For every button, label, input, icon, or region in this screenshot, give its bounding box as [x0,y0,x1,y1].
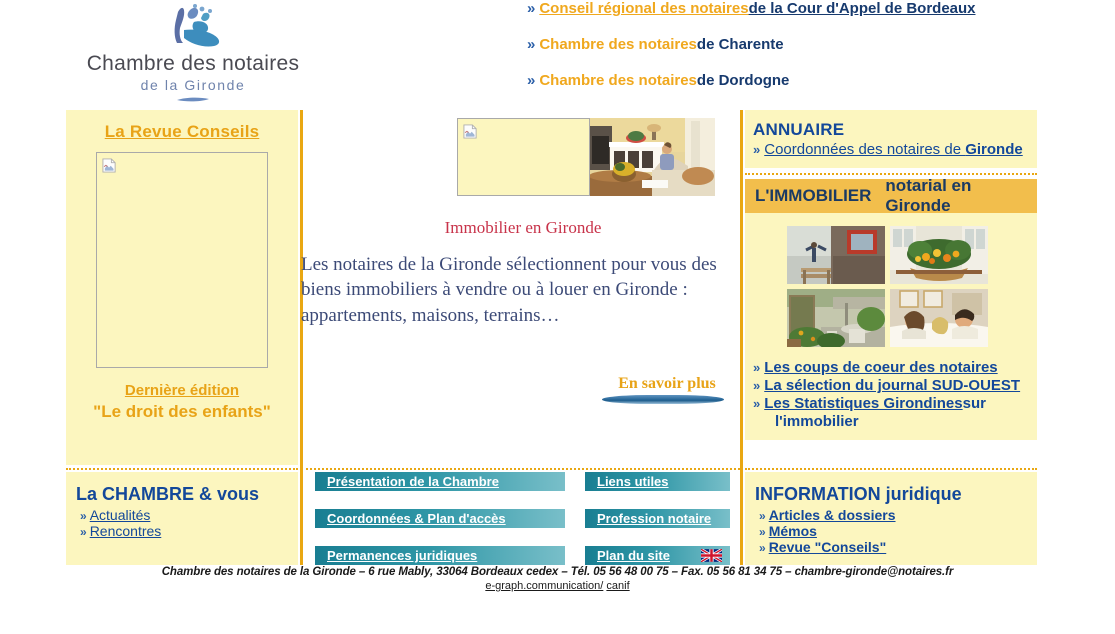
double-chevron-icon: » [753,397,758,410]
button-coordonnees-plan[interactable]: Coordonnées & Plan d'accès [315,509,565,528]
header-link-conseil-regional[interactable]: » Conseil régional des notaires de la Co… [527,0,1087,36]
link-statistiques-continuation[interactable]: l'immobilier [753,413,1037,430]
living-room-photo-art [590,118,715,196]
double-chevron-icon: » [759,525,764,539]
bottom-divider-mid [306,468,740,470]
header-link-gold-part: Chambre des notaires [539,36,697,53]
left-column-revue: La Revue Conseils Dernière édition "Le d… [66,110,298,465]
header-link-dordogne[interactable]: » Chambre des notaires de Dordogne [527,72,1087,108]
chambre-et-vous-heading: La CHAMBRE & vous [66,472,298,507]
information-juridique-section: INFORMATION juridique » Articles & dossi… [745,472,1037,565]
logo-swoosh-icon [176,96,210,103]
double-chevron-icon: » [527,1,533,16]
chambre-link-actualites[interactable]: » Actualités [66,507,298,523]
double-chevron-icon: » [80,525,85,539]
immobilier-photo-grid [745,213,1037,355]
revue-conseils-title[interactable]: La Revue Conseils [66,110,298,142]
header-link-navy-part: de la Cour d'Appel de Bordeaux [749,0,976,17]
info-link-memos-label: Mémos [769,523,817,539]
button-plan-du-site[interactable]: Plan du site [585,546,730,565]
en-savoir-plus-link[interactable]: En savoir plus [602,375,732,393]
info-link-articles-label: Articles & dossiers [769,507,896,523]
button-profession-notaire[interactable]: Profession notaire [585,509,730,528]
chambre-et-vous-section: La CHAMBRE & vous » Actualités » Rencont… [66,472,298,565]
header-link-navy-part: de Charente [697,36,784,53]
double-chevron-icon: » [80,509,85,523]
info-link-memos[interactable]: » Mémos [745,523,1037,539]
header-link-gold-part: Conseil régional des notaires [539,0,748,17]
living-room-photo [590,118,715,196]
footer-credit-canif-link[interactable]: canif [606,580,629,592]
annuaire-link-row[interactable]: » Coordonnées des notaires de Gironde [753,141,1037,158]
double-chevron-icon: » [753,143,758,156]
immobilier-banner-strong: L'IMMOBILIER [755,186,871,206]
section-divider-dotted [745,173,1037,175]
revue-edition-label: Dernière édition [66,382,298,401]
site-header: Chambre des notaires de la Gironde » Con… [0,0,1115,110]
button-liens-utiles[interactable]: Liens utiles [585,472,730,491]
revue-edition-block[interactable]: Dernière édition "Le droit des enfants" [66,382,298,422]
link-selection-sud-ouest[interactable]: » La sélection du journal SUD-OUEST [753,377,1037,394]
immobilier-links: » Les coups de coeur des notaires » La s… [745,355,1037,440]
family-on-bed-photo-art [890,289,988,347]
notaries-swirl-logo-icon [150,4,236,50]
header-link-charente[interactable]: » Chambre des notaires de Charente [527,36,1087,72]
button-permanences-juridiques[interactable]: Permanences juridiques [315,546,565,565]
info-link-revue-conseils[interactable]: » Revue "Conseils" [745,539,1037,555]
garden-terrace-photo-art [787,289,885,347]
union-jack-flag-icon[interactable] [701,549,722,562]
immobilier-body-text: Les notaires de la Gironde sélectionnent… [301,252,747,328]
bottom-divider-left [66,468,298,470]
double-chevron-icon: » [753,361,758,374]
button-profession-notaire-label: Profession notaire [597,511,711,526]
double-chevron-icon: » [759,541,764,555]
button-presentation-chambre[interactable]: Présentation de la Chambre [315,472,565,491]
garden-terrace-photo[interactable] [787,289,885,347]
annuaire-link-prefix: Coordonnées des notaires de [764,141,965,158]
header-links: » Conseil régional des notaires de la Co… [527,0,1087,108]
footer-credit-egraph-link[interactable]: e-graph.communication/ [485,580,603,592]
beach-house-photo-art [787,226,885,284]
information-heading-strong: INFORMATION [755,484,881,504]
site-footer: Chambre des notaires de la Gironde – 6 r… [0,566,1115,592]
immobilier-heading: Immobilier en Gironde [306,218,740,238]
bottom-divider-right [745,468,1037,470]
header-link-navy-part: de Dordogne [697,72,790,89]
nav-buttons-grid: Présentation de la Chambre Coordonnées &… [306,472,740,474]
double-chevron-icon: » [527,37,533,52]
info-link-articles[interactable]: » Articles & dossiers [745,507,1037,523]
annuaire-coordonnees-link[interactable]: Coordonnées des notaires de Gironde [764,141,1023,158]
footer-contact-line: Chambre des notaires de la Gironde – 6 r… [0,566,1115,578]
info-link-revue-conseils-label: Revue "Conseils" [769,539,887,555]
beach-house-photo[interactable] [787,226,885,284]
double-chevron-icon: » [759,509,764,523]
double-chevron-icon: » [753,379,758,392]
logo-text-secondary: de la Gironde [141,77,246,93]
broken-image-placeholder-icon [102,158,117,173]
link-statistiques-girondines[interactable]: » Les Statistiques Girondines sur [753,395,1037,412]
revue-edition-title: "Le droit des enfants" [66,401,298,422]
page-root: Chambre des notaires de la Gironde » Con… [0,0,1115,634]
en-savoir-plus-block[interactable]: En savoir plus [602,375,732,404]
button-plan-du-site-label: Plan du site [597,548,670,563]
immobilier-banner-rest: notarial en Gironde [885,176,1037,216]
link-statistiques-suffix: sur [963,395,986,412]
button-presentation-chambre-label: Présentation de la Chambre [327,474,499,489]
button-permanences-juridiques-label: Permanences juridiques [327,548,477,563]
nav-buttons-section: Présentation de la Chambre Coordonnées &… [306,472,740,565]
flower-planter-photo-art [890,226,988,284]
chambre-link-rencontres[interactable]: » Rencontres [66,523,298,539]
chambre-link-rencontres-label: Rencontres [90,523,162,539]
center-media-row [457,118,715,196]
header-link-gold-part: Chambre des notaires [539,72,697,89]
revue-cover-image[interactable] [96,152,268,368]
annuaire-link-bold: Gironde [965,141,1023,158]
column-divider-left [300,110,303,565]
right-column: ANNUAIRE » Coordonnées des notaires de G… [745,110,1037,440]
chambre-link-actualites-label: Actualités [90,507,151,523]
family-on-bed-photo[interactable] [890,289,988,347]
annuaire-section: ANNUAIRE » Coordonnées des notaires de G… [745,110,1037,168]
footer-credits: e-graph.communication/ canif [0,580,1115,592]
button-coordonnees-plan-label: Coordonnées & Plan d'accès [327,511,506,526]
column-divider-right [740,110,743,565]
link-selection-sud-ouest-label: La sélection du journal SUD-OUEST [764,377,1020,394]
button-liens-utiles-label: Liens utiles [597,474,669,489]
information-heading-rest: juridique [886,484,962,504]
double-chevron-icon: » [527,73,533,88]
link-statistiques-girondines-label: Les Statistiques Girondines [764,395,962,412]
flower-planter-photo[interactable] [890,226,988,284]
immobilier-section: » Les coups de coeur des notaires » La s… [745,213,1037,440]
annuaire-heading: ANNUAIRE [753,120,1037,140]
center-column-immobilier: Immobilier en Gironde Les notaires de la… [306,110,740,465]
link-coups-de-coeur-label: Les coups de coeur des notaires [764,359,997,376]
information-juridique-heading: INFORMATION juridique [745,472,1037,507]
site-logo[interactable]: Chambre des notaires de la Gironde [78,4,308,104]
center-placeholder-image[interactable] [457,118,590,196]
immobilier-banner: L'IMMOBILIER notarial en Gironde [745,179,1037,213]
broken-image-placeholder-icon [463,124,478,139]
logo-text-primary: Chambre des notaires [87,52,300,76]
en-savoir-plus-underline-bar [602,395,724,404]
link-coups-de-coeur[interactable]: » Les coups de coeur des notaires [753,359,1037,376]
